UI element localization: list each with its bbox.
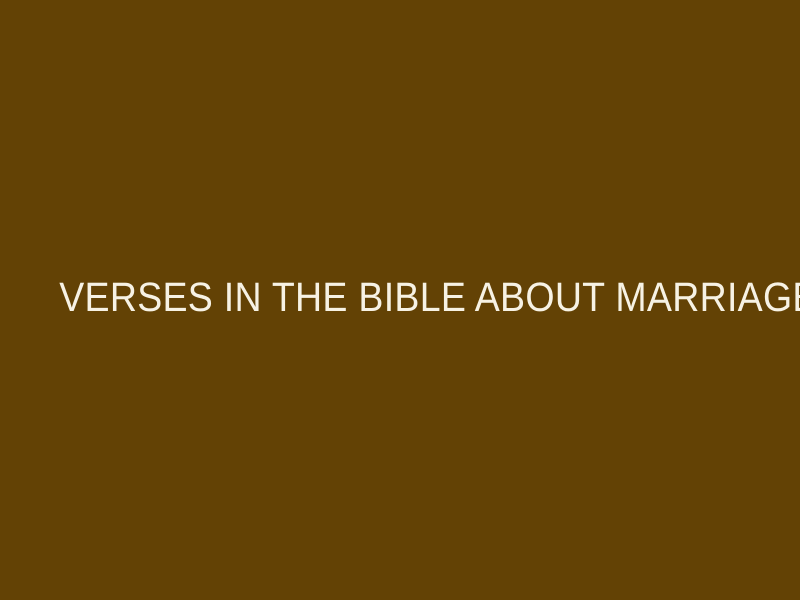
page-title: VERSES IN THE BIBLE ABOUT MARRIAGE bbox=[59, 275, 800, 321]
title-block: VERSES IN THE BIBLE ABOUT MARRIAGE bbox=[0, 275, 800, 321]
title-slide: VERSES IN THE BIBLE ABOUT MARRIAGE bbox=[0, 0, 800, 600]
